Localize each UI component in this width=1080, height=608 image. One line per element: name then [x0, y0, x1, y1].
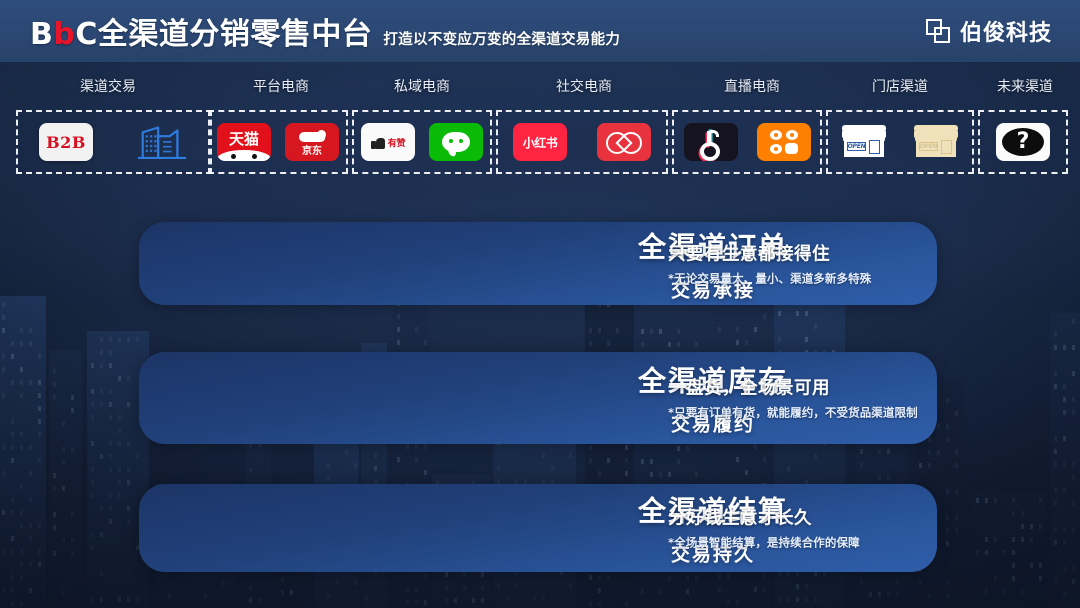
feature-side-note: *只要有订单有货，就能履约，不受货品渠道限制 [668, 405, 918, 422]
douyin-icon[interactable] [684, 123, 738, 161]
channel-group-2: 天猫京东 [208, 110, 348, 174]
enterprise-building-icon[interactable] [135, 123, 189, 161]
kuaishou-icon[interactable] [757, 123, 811, 161]
channel-label-3: 私域电商 [394, 76, 450, 96]
channel-label-5: 直播电商 [724, 76, 780, 96]
channel-label-4: 社交电商 [556, 76, 612, 96]
feature-row-3: 全渠道结算交易持久分好钱生意才长久*全场景智能结算，是持续合作的保障 [0, 484, 1080, 572]
store-front-icon[interactable]: OPEN [909, 123, 963, 161]
channel-group-3: 有赞 [352, 110, 492, 174]
feature-side-text-1: 只要有生意都接得住*无论交易量大、量小、渠道多新多特殊 [668, 240, 918, 287]
channel-group-1: B2B [16, 110, 212, 174]
feature-side-note: *无论交易量大、量小、渠道多新多特殊 [668, 270, 918, 287]
question-mark-icon[interactable]: ? [996, 123, 1050, 161]
channel-label-1: 渠道交易 [80, 76, 136, 96]
feature-side-text-3: 分好钱生意才长久*全场景智能结算，是持续合作的保障 [668, 505, 918, 552]
channel-label-7: 未来渠道 [997, 76, 1053, 96]
slide-canvas: BbC全渠道分销零售中台 打造以不变应万变的全渠道交易能力 伯俊科技 渠道交易平… [0, 0, 1080, 608]
channel-group-7: ? [978, 110, 1068, 174]
feature-row-2: 全渠道库存交易履约一盘货，全场景可用*只要有订单有货，就能履约，不受货品渠道限制 [0, 352, 1080, 444]
feature-side-heading: 一盘货，全场景可用 [668, 375, 918, 400]
brand-name: 伯俊科技 [960, 15, 1052, 47]
feature-side-note: *全场景智能结算，是持续合作的保障 [668, 535, 918, 552]
page-title-text: BbC全渠道分销零售中台 [30, 9, 372, 53]
youzan-icon[interactable]: 有赞 [361, 123, 415, 161]
title-part-2: C全渠道分销零售中台 [75, 17, 372, 52]
feature-row-1: 全渠道订单交易承接只要有生意都接得住*无论交易量大、量小、渠道多新多特殊 [0, 222, 1080, 305]
b2b-badge-icon[interactable]: B2B [39, 123, 93, 161]
vip-heart-icon[interactable] [597, 123, 651, 161]
channel-label-2: 平台电商 [253, 76, 309, 96]
channel-group-6: OPEN OPEN [826, 110, 974, 174]
overlapping-squares-icon [926, 19, 951, 44]
xiaohongshu-icon[interactable]: 小红书 [513, 123, 567, 161]
feature-side-heading: 分好钱生意才长久 [668, 505, 918, 530]
feature-side-heading: 只要有生意都接得住 [668, 240, 918, 265]
channel-group-5 [672, 110, 822, 174]
channel-icon-row: B2B 天猫京东有赞小红书 OPE [0, 110, 1080, 174]
wechat-icon[interactable] [429, 123, 483, 161]
brand-logo: 伯俊科技 [926, 15, 1052, 47]
jd-icon[interactable]: 京东 [285, 123, 339, 161]
page-title: BbC全渠道分销零售中台 打造以不变应万变的全渠道交易能力 [30, 9, 620, 53]
title-accent-letter: b [53, 17, 75, 52]
title-part-1: B [30, 17, 53, 52]
tmall-icon[interactable]: 天猫 [217, 123, 271, 161]
channel-label-6: 门店渠道 [872, 76, 928, 96]
channel-group-4: 小红书 [496, 110, 668, 174]
page-subtitle: 打造以不变应万变的全渠道交易能力 [383, 28, 620, 49]
store-front-icon[interactable]: OPEN [837, 123, 891, 161]
feature-side-text-2: 一盘货，全场景可用*只要有订单有货，就能履约，不受货品渠道限制 [668, 375, 918, 422]
page-header: BbC全渠道分销零售中台 打造以不变应万变的全渠道交易能力 伯俊科技 [0, 0, 1080, 62]
channel-label-row: 渠道交易平台电商私域电商社交电商直播电商门店渠道未来渠道 [0, 76, 1080, 100]
